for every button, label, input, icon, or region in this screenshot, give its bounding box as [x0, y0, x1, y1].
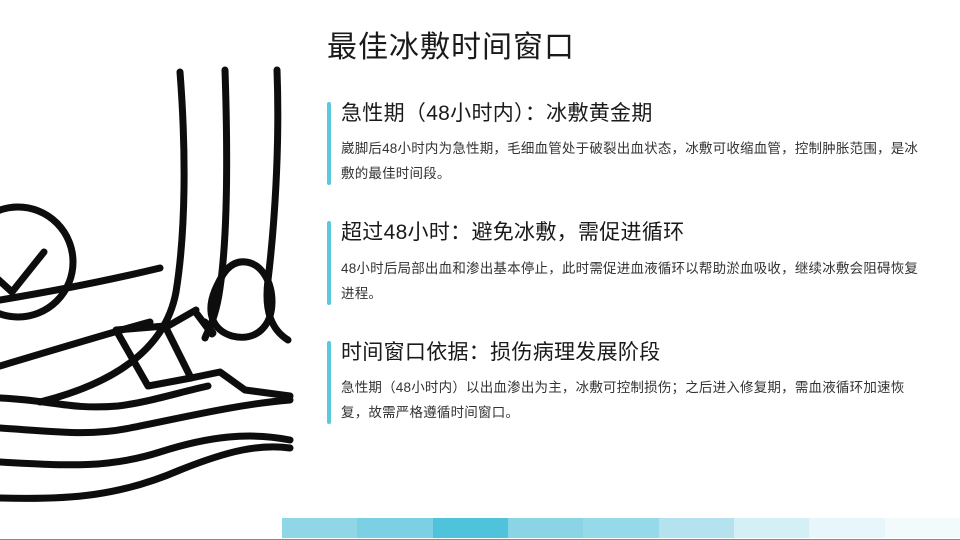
strip-segment [433, 518, 508, 538]
slide-root: 最佳冰敷时间窗口 急性期（48小时内）：冰敷黄金期 崴脚后48小时内为急性期，毛… [0, 0, 960, 540]
ankle-foot-illustration [0, 0, 300, 520]
section-heading: 急性期（48小时内）：冰敷黄金期 [341, 100, 927, 128]
section-body: 急性期（48小时内）以出血渗出为主，冰敷可控制损伤；之后进入修复期，需血液循环加… [341, 376, 921, 426]
section-body: 48小时后局部出血和渗出基本停止，此时需促进血液循环以帮助淤血吸收，继续冰敷会阻… [341, 257, 921, 307]
check-icon [0, 252, 44, 292]
strip-segment [583, 518, 658, 538]
strip-segment [659, 518, 734, 538]
section-after-48h: 超过48小时：避免冰敷，需促进循环 48小时后局部出血和渗出基本停止，此时需促进… [327, 219, 927, 306]
strip-segment [734, 518, 809, 538]
strip-segment [809, 518, 884, 538]
accent-bar [327, 341, 331, 424]
accent-bar [327, 221, 331, 304]
page-title: 最佳冰敷时间窗口 [327, 30, 927, 66]
bottom-color-strip [282, 518, 960, 538]
content-column: 最佳冰敷时间窗口 急性期（48小时内）：冰敷黄金期 崴脚后48小时内为急性期，毛… [327, 30, 927, 426]
section-rationale: 时间窗口依据：损伤病理发展阶段 急性期（48小时内）以出血渗出为主，冰敷可控制损… [327, 339, 927, 426]
section-heading: 时间窗口依据：损伤病理发展阶段 [341, 339, 927, 367]
accent-bar [327, 102, 331, 185]
strip-segment [282, 518, 357, 538]
strip-segment [508, 518, 583, 538]
leg-outer-line [40, 72, 184, 402]
strip-segment [885, 518, 960, 538]
section-body: 崴脚后48小时内为急性期，毛细血管处于破裂出血状态，冰敷可收缩血管，控制肿胀范围… [341, 137, 921, 187]
strip-segment [357, 518, 432, 538]
section-acute-phase: 急性期（48小时内）：冰敷黄金期 崴脚后48小时内为急性期，毛细血管处于破裂出血… [327, 100, 927, 187]
sole-contour-1 [0, 386, 208, 407]
section-heading: 超过48小时：避免冰敷，需促进循环 [341, 219, 927, 247]
